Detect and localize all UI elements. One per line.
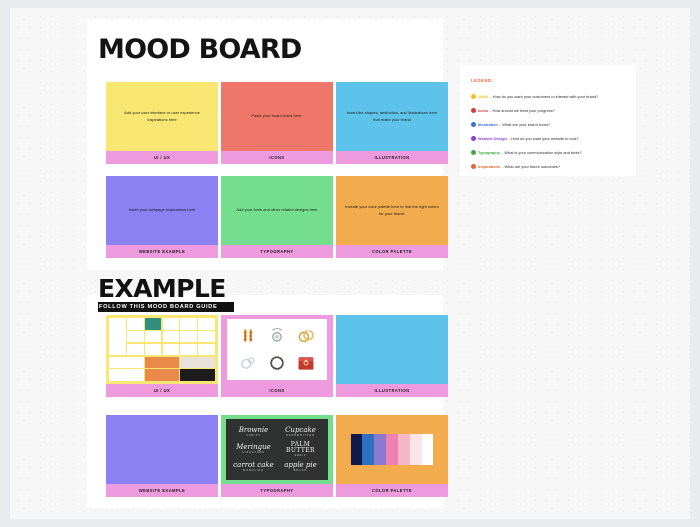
type-specimen: carrot cake MONOLINE	[233, 462, 274, 472]
example-card-website-example[interactable]: WEBSITE EXAMPLE	[106, 415, 218, 497]
type-specimen: Meringue SIGNATURE	[236, 444, 271, 454]
legend-dot-illustration	[471, 122, 476, 127]
illustration-artwork	[336, 315, 448, 384]
mood-card-label: WEBSITE EXAMPLE	[106, 245, 218, 258]
mood-card-label: ILLUSTRATION	[336, 151, 448, 164]
legend-dot-website-design	[471, 136, 476, 141]
legend-item-typography[interactable]: Typography - What is your communication …	[471, 150, 582, 155]
example-title: EXAMPLE	[98, 276, 234, 301]
legend-dot-inspirations	[471, 164, 476, 169]
mood-card-body: Include your color palette here to find …	[336, 176, 448, 245]
mood-card-body: Add your user interface or user experien…	[106, 82, 218, 151]
color-palette-strip	[351, 434, 434, 466]
example-card-label: TYPOGRAPHY	[221, 484, 333, 497]
board-canvas: MOOD BOARD Add your user interface or us…	[10, 8, 690, 519]
legend-dot-typography	[471, 150, 476, 155]
legend-key: Inspirations	[478, 164, 500, 169]
legend-key: Illustration	[478, 122, 498, 127]
palette-swatch	[398, 434, 410, 466]
palette-swatch	[374, 434, 386, 466]
mood-card-illustration[interactable]: Insert the shapes, aesthetics, and illus…	[336, 82, 448, 164]
legend-item-website-design[interactable]: Website Design - How do you want your we…	[471, 136, 579, 141]
mood-card-label: ICONS	[221, 151, 333, 164]
mood-card-ui-ux[interactable]: Add your user interface or user experien…	[106, 82, 218, 164]
mood-card-website-example[interactable]: Insert your webpage inspirations here WE…	[106, 176, 218, 258]
mood-card-text: Add your fonts and other related designs…	[236, 207, 317, 213]
legend-item-icons[interactable]: Icons - How should we treat your progres…	[471, 108, 555, 113]
example-card-label: COLOR PALETTE	[336, 484, 448, 497]
mood-card-label: COLOR PALETTE	[336, 245, 448, 258]
legend-question: - What are your brand icons?	[500, 122, 550, 127]
mood-card-typography[interactable]: Add your fonts and other related designs…	[221, 176, 333, 258]
example-card-body	[106, 415, 218, 484]
legend-title: LEGEND:	[471, 78, 493, 83]
legend-dot-ui-ux	[471, 94, 476, 99]
website-artwork	[106, 415, 218, 484]
legend-item-ui-ux[interactable]: UI/UX - How do you want your customers t…	[471, 94, 598, 99]
example-card-body	[106, 315, 218, 384]
example-card-label: ILLUSTRATION	[336, 384, 448, 397]
example-card-body	[336, 315, 448, 384]
mood-card-text: Add your user interface or user experien…	[115, 110, 209, 122]
palette-swatch	[386, 434, 398, 466]
legend-question: - How do you want your customers to inte…	[490, 94, 598, 99]
example-card-illustration[interactable]: ILLUSTRATION	[336, 315, 448, 397]
mood-card-text: Paste your board icons here.	[251, 113, 302, 119]
legend-key: Icons	[478, 108, 488, 113]
example-card-body: Brownie SCRIPT Cupcake HANDWRITTEN Merin…	[221, 415, 333, 484]
type-specimen: PALM BUTTER SERIF	[277, 442, 324, 457]
ui-mockup-collage	[106, 315, 218, 384]
mood-card-label: TYPOGRAPHY	[221, 245, 333, 258]
mood-card-body: Add your fonts and other related designs…	[221, 176, 333, 245]
example-card-body	[336, 415, 448, 484]
legend-question: - What are your future outcomes?	[502, 164, 560, 169]
example-card-typography[interactable]: Brownie SCRIPT Cupcake HANDWRITTEN Merin…	[221, 415, 333, 497]
example-card-color-palette[interactable]: COLOR PALETTE	[336, 415, 448, 497]
type-specimen: Brownie SCRIPT	[239, 427, 269, 437]
mood-board-title: MOOD BOARD	[98, 34, 302, 65]
example-card-label: ICONS	[221, 384, 333, 397]
palette-swatch	[422, 434, 434, 466]
palette-swatch	[362, 434, 374, 466]
example-card-icons[interactable]: ICONS	[221, 315, 333, 397]
example-card-label: WEBSITE EXAMPLE	[106, 484, 218, 497]
rings-icon	[296, 326, 316, 346]
type-specimen: Cupcake HANDWRITTEN	[285, 427, 316, 437]
palette-swatch	[410, 434, 422, 466]
mood-card-body: Insert your webpage inspirations here	[106, 176, 218, 245]
legend-question: - What is your communication style and f…	[502, 150, 582, 155]
example-header: EXAMPLE FOLLOW THIS MOOD BOARD GUIDE	[98, 276, 234, 312]
legend-dot-icons	[471, 108, 476, 113]
legend-key: Website Design	[478, 136, 507, 141]
legend-item-illustration[interactable]: Illustration - What are your brand icons…	[471, 122, 550, 127]
mood-card-text: Insert your webpage inspirations here	[129, 207, 196, 213]
example-card-label: UI / UX	[106, 384, 218, 397]
example-subtitle: FOLLOW THIS MOOD BOARD GUIDE	[98, 302, 234, 312]
ring-box-icon	[296, 353, 316, 373]
mood-card-color-palette[interactable]: Include your color palette here to find …	[336, 176, 448, 258]
mood-card-text: Insert the shapes, aesthetics, and illus…	[345, 110, 439, 122]
mood-card-text: Include your color palette here to find …	[345, 204, 439, 216]
earrings-icon	[238, 326, 258, 346]
palette-swatch	[351, 434, 363, 466]
mood-card-body: Insert the shapes, aesthetics, and illus…	[336, 82, 448, 151]
bracelet-icon	[238, 353, 258, 373]
jewelry-icon-grid	[227, 319, 327, 380]
mood-card-icons[interactable]: Paste your board icons here. ICONS	[221, 82, 333, 164]
legend-key: Typography	[478, 150, 500, 155]
pendant-icon	[267, 326, 287, 346]
legend-question: - How should we treat your progress?	[490, 108, 555, 113]
typography-specimen-board: Brownie SCRIPT Cupcake HANDWRITTEN Merin…	[226, 419, 328, 480]
example-card-ui-ux[interactable]: UI / UX	[106, 315, 218, 397]
bangle-icon	[267, 353, 287, 373]
legend-item-inspirations[interactable]: Inspirations - What are your future outc…	[471, 164, 560, 169]
mood-card-body: Paste your board icons here.	[221, 82, 333, 151]
legend-key: UI/UX	[478, 94, 488, 99]
mood-card-label: UI / UX	[106, 151, 218, 164]
type-specimen: apple pie BRUSH	[284, 462, 317, 472]
legend-question: - How do you want your website to look?	[509, 136, 579, 141]
example-card-body	[221, 315, 333, 384]
